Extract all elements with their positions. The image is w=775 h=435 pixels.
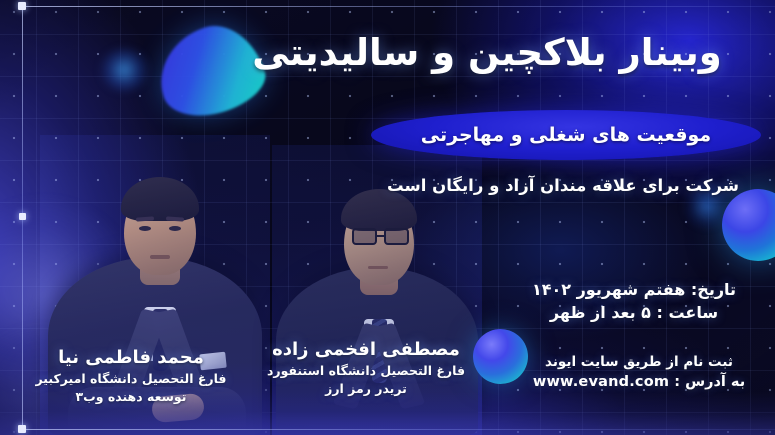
registration-instruction: ثبت نام از طریق سایت ایوند bbox=[519, 352, 759, 372]
schedule-block: تاریخ: هفتم شهریور ۱۴۰۲ ساعت : ۵ بعد از … bbox=[509, 278, 759, 324]
event-time: ساعت : ۵ بعد از ظهر bbox=[509, 301, 759, 324]
poster-title: وبینار بلاکچین و سالیدیتی bbox=[217, 32, 757, 73]
speaker-1-education: فارغ التحصیل دانشگاه امیرکبیر bbox=[8, 371, 254, 388]
free-participation-note: شرکت برای علاقه مندان آزاد و رایگان است bbox=[373, 176, 753, 195]
corner-marker-bottom-left bbox=[18, 425, 26, 433]
top-rule-line bbox=[22, 6, 775, 7]
subtitle-badge-label: موقعیت های شغلی و مهاجرتی bbox=[421, 124, 711, 146]
speaker-2-name: مصطفی افخمی زاده bbox=[250, 340, 482, 361]
webinar-poster: وبینار بلاکچین و سالیدیتی موقعیت های شغل… bbox=[0, 0, 775, 435]
speaker-2-education: فارغ التحصیل دانشگاه استنفورد bbox=[250, 363, 482, 380]
subtitle-badge: موقعیت های شغلی و مهاجرتی bbox=[371, 110, 761, 160]
corner-marker-top-left bbox=[18, 2, 26, 10]
registration-block: ثبت نام از طریق سایت ایوند به آدرس : www… bbox=[519, 352, 759, 394]
registration-url[interactable]: به آدرس : www.evand.com bbox=[519, 372, 759, 394]
speaker-2-card: مصطفی افخمی زاده فارغ التحصیل دانشگاه اس… bbox=[250, 340, 482, 398]
corner-marker-middle-left bbox=[19, 213, 26, 220]
speaker-1-role: توسعه دهنده وب۳ bbox=[8, 389, 254, 406]
speaker-1-name: محمد فاطمی نیا bbox=[8, 348, 254, 369]
event-date: تاریخ: هفتم شهریور ۱۴۰۲ bbox=[509, 278, 759, 301]
speaker-1-card: محمد فاطمی نیا فارغ التحصیل دانشگاه امیر… bbox=[8, 348, 254, 406]
bottom-rule-line bbox=[22, 429, 775, 430]
speaker-2-role: تریدر رمز ارز bbox=[250, 381, 482, 398]
